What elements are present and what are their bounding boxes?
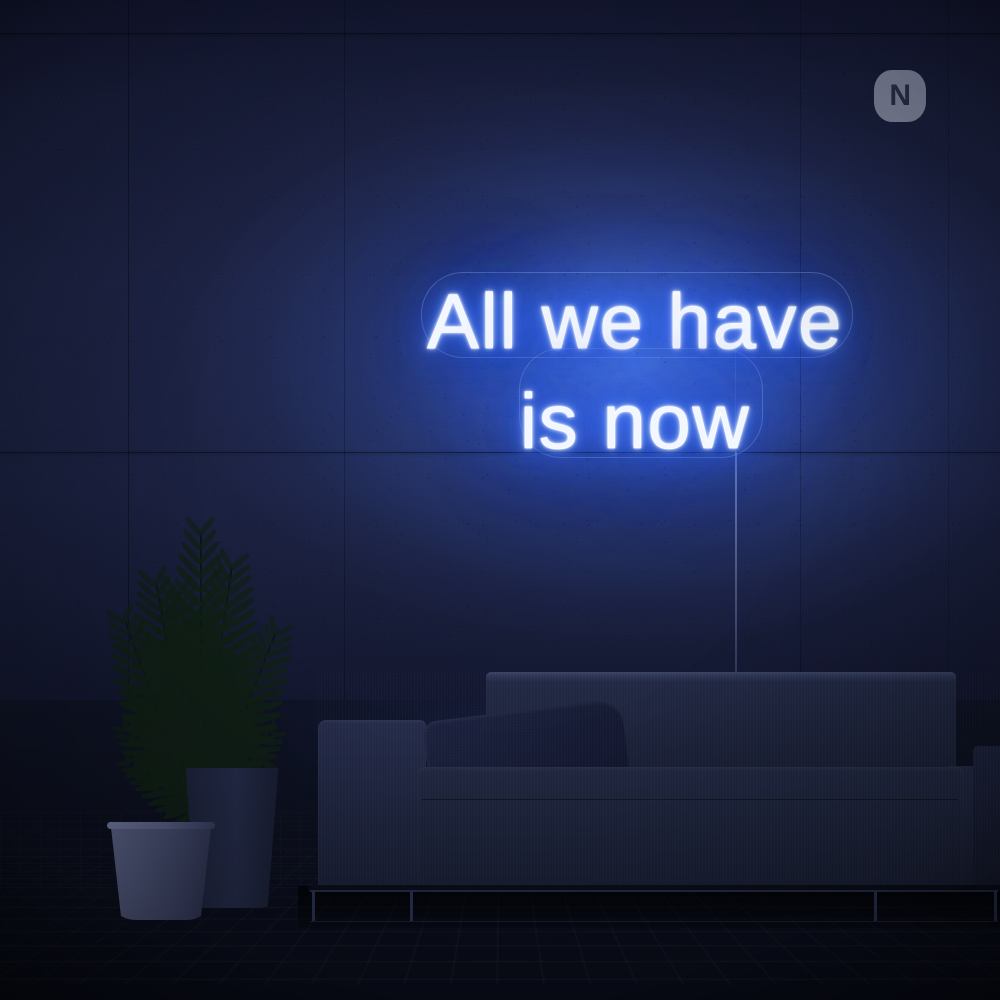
sofa-metal-frame (310, 890, 998, 922)
scene-root: All we have is now N (0, 0, 1000, 1000)
plant-pot-rim (107, 822, 215, 829)
power-cord (735, 452, 737, 682)
brand-badge-letter: N (889, 81, 910, 111)
sofa-seat-cushion (418, 767, 963, 887)
sofa-leg (874, 891, 877, 921)
neon-sign: All we have is now (405, 258, 865, 458)
sofa-seat-seam (422, 799, 958, 800)
wall-seam-horizontal-top (0, 33, 1000, 34)
potted-plant (10, 450, 400, 910)
sofa (318, 672, 1000, 912)
wall-seam-vertical-far-right (948, 0, 949, 700)
neon-text-line-2: is now (520, 382, 750, 460)
neon-text-line-1: All we have (427, 282, 843, 360)
sofa-backrest-highlight (486, 672, 956, 682)
plant-pot-front (106, 822, 216, 920)
sofa-right-section-back (973, 746, 1000, 888)
brand-badge[interactable]: N (874, 70, 926, 122)
sofa-leg (994, 891, 997, 921)
sofa-leg (410, 891, 413, 921)
